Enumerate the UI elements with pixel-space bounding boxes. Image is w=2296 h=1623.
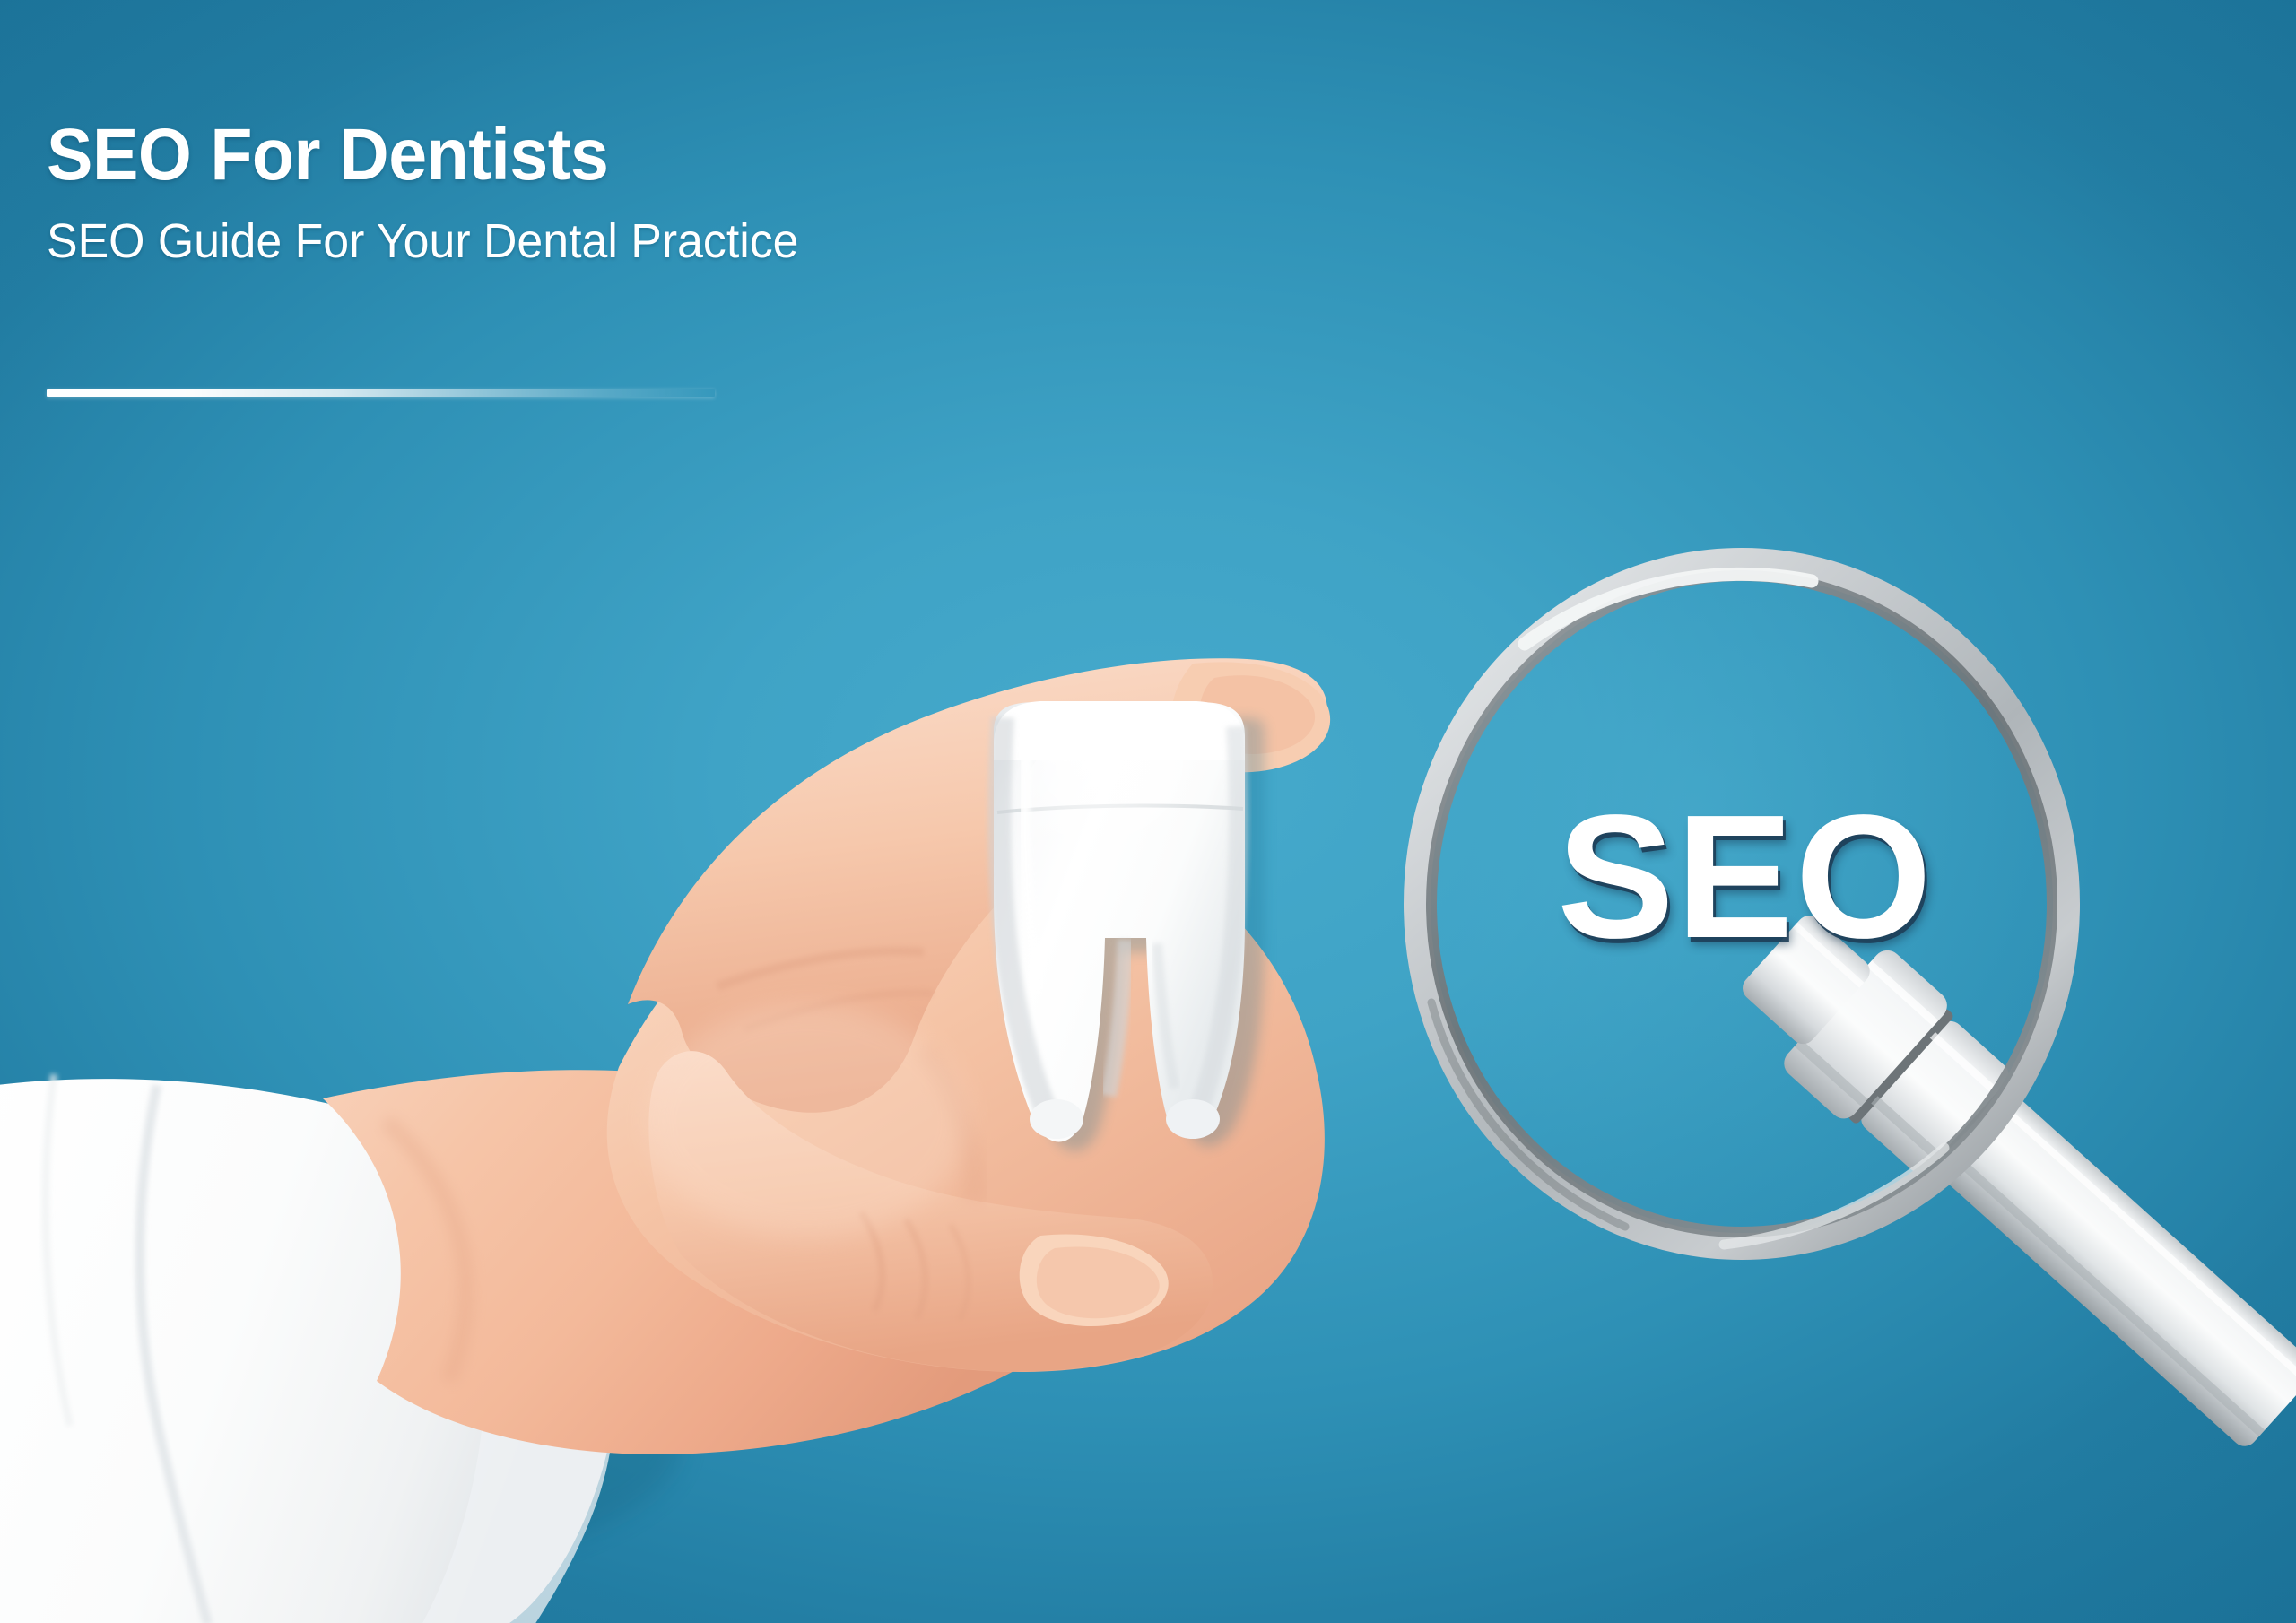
header-block: SEO For Dentists SEO Guide For Your Dent… xyxy=(47,118,1392,265)
header-divider xyxy=(47,389,715,397)
banner-canvas: SEO SEO For Dentists SEO Guide For Your … xyxy=(0,0,2296,1623)
page-subtitle: SEO Guide For Your Dental Practice xyxy=(47,217,1338,265)
page-title: SEO For Dentists xyxy=(47,118,1311,192)
seo-lens-label: SEO xyxy=(1476,789,2014,965)
